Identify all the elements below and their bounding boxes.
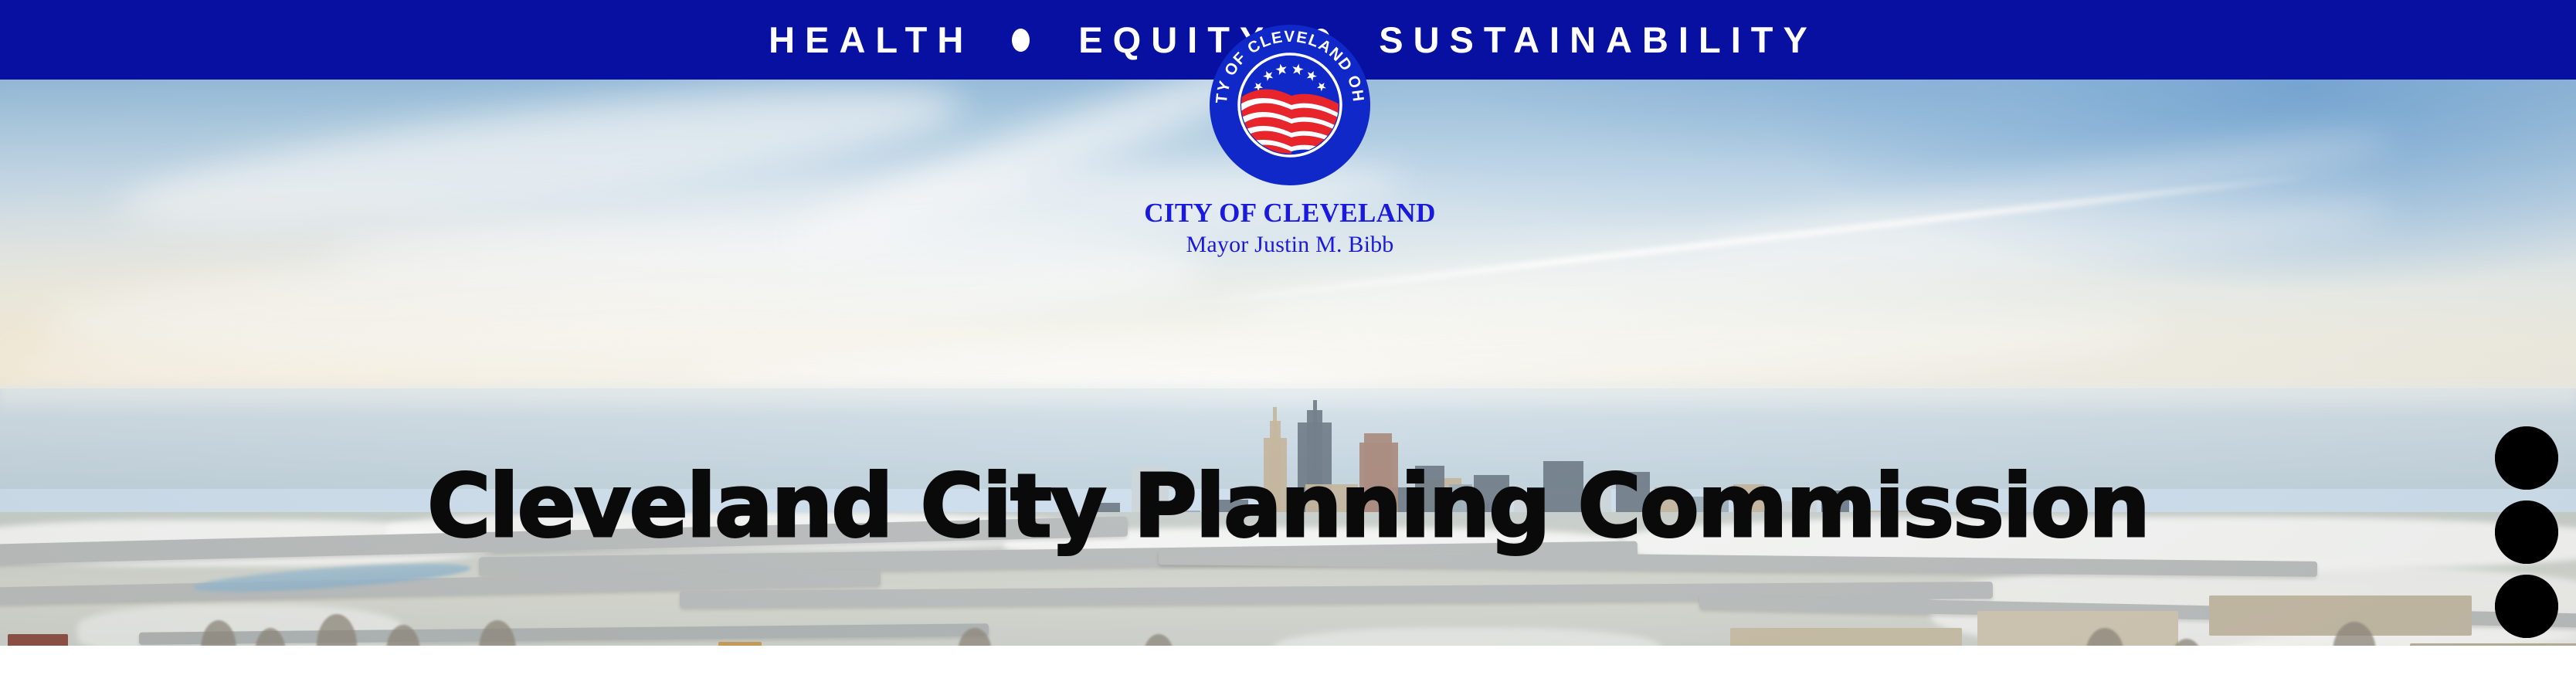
city-branding-block: CITY OF CLEVELAND OHIO CITY OF CLEVELAND… xyxy=(1124,25,1456,258)
youtube-icon[interactable] xyxy=(2495,426,2558,490)
footer-whitespace xyxy=(0,646,2576,682)
mayor-name-label: Mayor Justin M. Bibb xyxy=(1124,232,1456,258)
horizon-haze xyxy=(0,385,2576,416)
instagram-icon[interactable] xyxy=(2495,500,2558,564)
page-root: HEALTH EQUITY SUSTAINABILITY xyxy=(0,0,2576,682)
banner-separator-dot-icon xyxy=(1012,29,1030,52)
banner-word-health: HEALTH xyxy=(759,22,973,58)
page-title: Cleveland City Planning Commission xyxy=(0,463,2576,550)
city-of-cleveland-label: CITY OF CLEVELAND xyxy=(1124,199,1456,228)
social-links xyxy=(2494,426,2559,638)
facebook-icon[interactable] xyxy=(2495,575,2558,638)
city-seal: CITY OF CLEVELAND OHIO xyxy=(1210,25,1370,185)
